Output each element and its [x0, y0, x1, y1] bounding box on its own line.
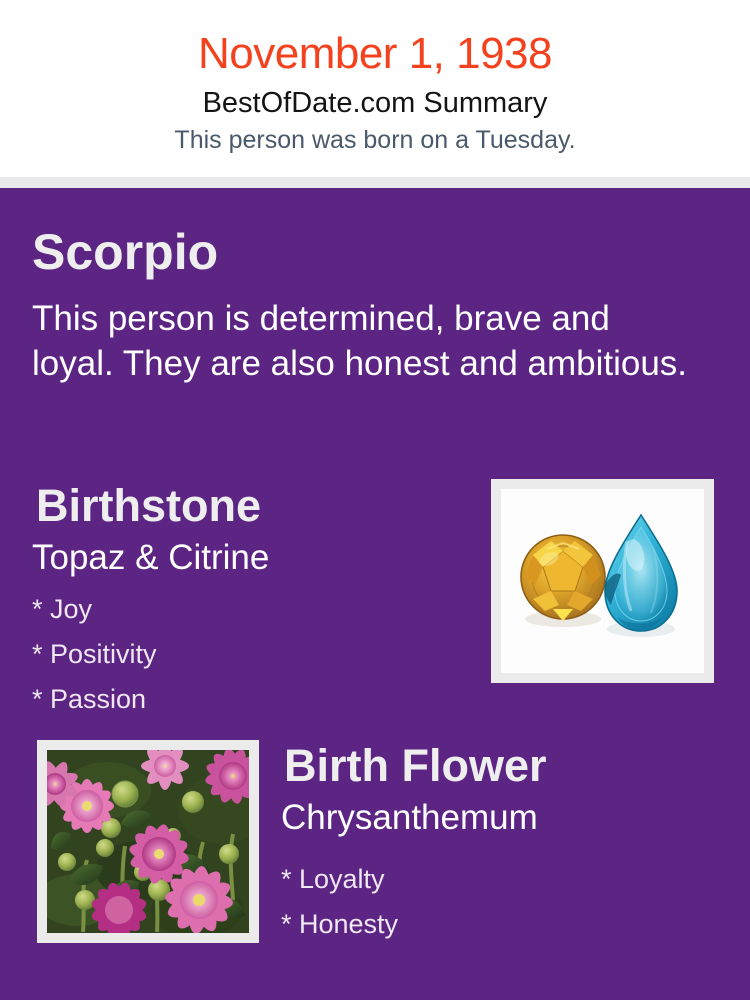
birthstone-photo-stage — [501, 489, 704, 673]
birthstone-photo-frame — [501, 489, 704, 673]
topaz-gem — [605, 515, 677, 631]
birthstone-photo-card — [491, 479, 714, 683]
chrysanthemum-illustration — [47, 750, 249, 933]
birth-flower-name: Chrysanthemum — [281, 795, 538, 840]
birthstone-trait-item: * Positivity — [32, 632, 157, 677]
summary-card: November 1, 1938 BestOfDate.com Summary … — [0, 0, 750, 1000]
birth-flower-photo-card — [37, 740, 259, 943]
birthstone-trait-item: * Passion — [32, 677, 157, 722]
birthstone-trait-item: * Joy — [32, 587, 157, 632]
birthstone-traits-list: * Joy * Positivity * Passion — [32, 587, 157, 722]
site-summary-label: BestOfDate.com Summary — [0, 82, 750, 122]
born-day-text: This person was born on a Tuesday. — [0, 122, 750, 156]
zodiac-description: This person is determined, brave and loy… — [32, 296, 698, 386]
birthstone-gems-illustration — [501, 489, 704, 673]
birth-flower-trait-item: * Loyalty — [281, 857, 398, 902]
birth-flower-traits-list: * Loyalty * Honesty — [281, 857, 398, 947]
birth-flower-trait-item: * Honesty — [281, 902, 398, 947]
birthstone-heading: Birthstone — [36, 478, 261, 533]
birth-flower-heading: Birth Flower — [284, 738, 547, 793]
citrine-gem — [521, 535, 605, 621]
header-divider — [0, 177, 750, 188]
zodiac-sign-title: Scorpio — [32, 222, 218, 282]
header: November 1, 1938 BestOfDate.com Summary … — [0, 0, 750, 177]
birthstone-name: Topaz & Citrine — [32, 535, 269, 580]
birth-flower-photo-frame — [47, 750, 249, 933]
page-title-date: November 1, 1938 — [0, 0, 750, 82]
